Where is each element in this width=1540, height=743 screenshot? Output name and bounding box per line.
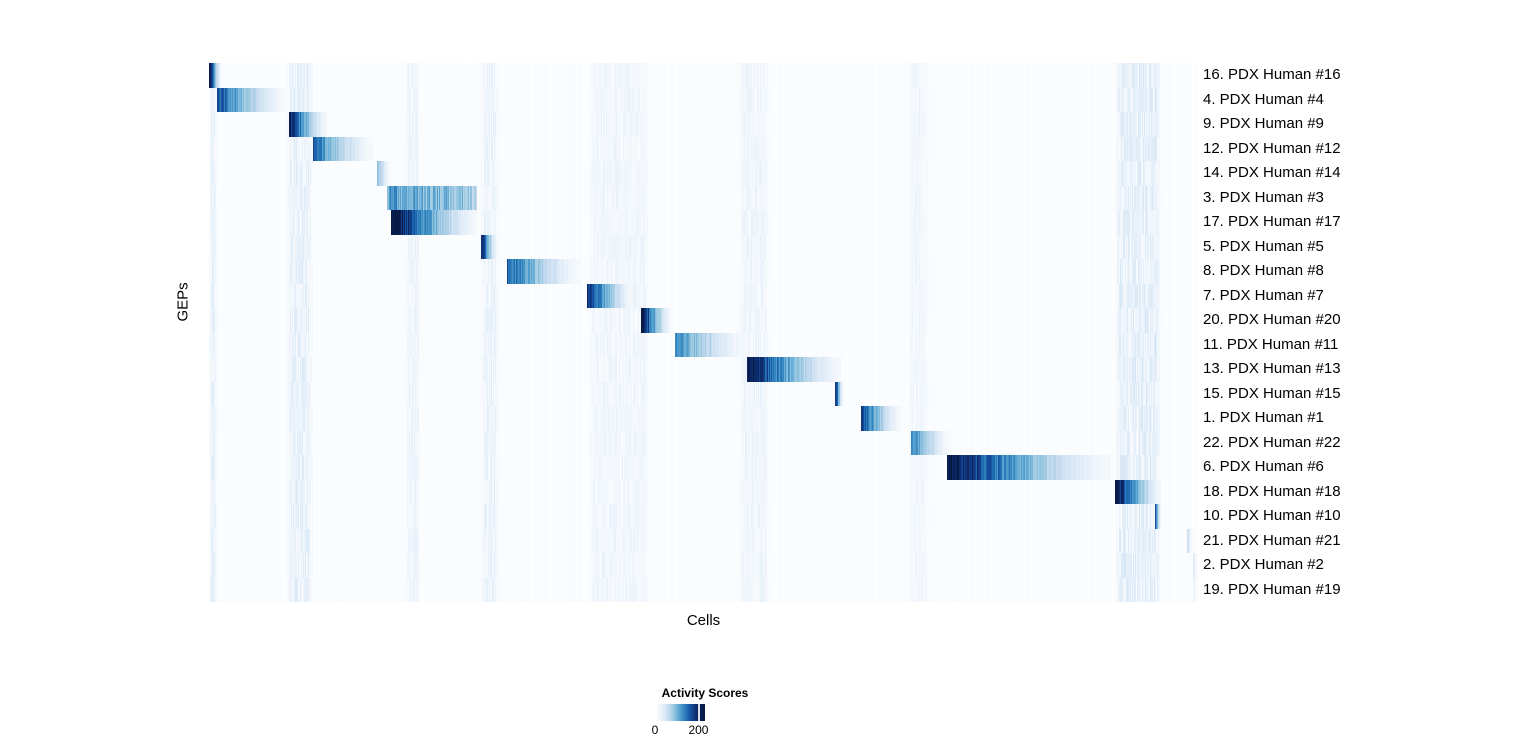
row-label: 3. PDX Human #3 xyxy=(1203,186,1324,211)
row-label-list: 16. PDX Human #164. PDX Human #49. PDX H… xyxy=(1203,63,1523,602)
y-axis-title: GEPs xyxy=(175,298,192,322)
row-label: 8. PDX Human #8 xyxy=(1203,259,1324,284)
row-label: 2. PDX Human #2 xyxy=(1203,553,1324,578)
row-label: 22. PDX Human #22 xyxy=(1203,431,1341,456)
row-label: 4. PDX Human #4 xyxy=(1203,88,1324,113)
row-label: 9. PDX Human #9 xyxy=(1203,112,1324,137)
heatmap-cells[interactable] xyxy=(209,63,1198,602)
row-label: 21. PDX Human #21 xyxy=(1203,529,1341,554)
row-label: 1. PDX Human #1 xyxy=(1203,406,1324,431)
row-label: 14. PDX Human #14 xyxy=(1203,161,1341,186)
row-label: 6. PDX Human #6 xyxy=(1203,455,1324,480)
row-label: 15. PDX Human #15 xyxy=(1203,382,1341,407)
row-label: 18. PDX Human #18 xyxy=(1203,480,1341,505)
row-label: 5. PDX Human #5 xyxy=(1203,235,1324,260)
row-label: 19. PDX Human #19 xyxy=(1203,578,1341,603)
row-label: 7. PDX Human #7 xyxy=(1203,284,1324,309)
colorbar-tick xyxy=(698,704,700,721)
heatmap-figure: GEPs Cells 16. PDX Human #164. PDX Human… xyxy=(0,0,1540,743)
colorbar-title: Activity Scores xyxy=(600,686,810,700)
heatmap-plot-area[interactable] xyxy=(209,63,1198,602)
row-label: 13. PDX Human #13 xyxy=(1203,357,1341,382)
colorbar-tick-label: 0 xyxy=(652,723,659,737)
colorbar-bar-wrap[interactable] xyxy=(655,704,705,721)
row-label: 16. PDX Human #16 xyxy=(1203,63,1341,88)
colorbar-legend: Activity Scores 0200 xyxy=(600,686,810,743)
row-label: 10. PDX Human #10 xyxy=(1203,504,1341,529)
row-label: 11. PDX Human #11 xyxy=(1203,333,1338,358)
colorbar-tick-label: 200 xyxy=(688,723,708,737)
x-axis-title: Cells xyxy=(209,612,1198,629)
row-label: 17. PDX Human #17 xyxy=(1203,210,1341,235)
row-label: 12. PDX Human #12 xyxy=(1203,137,1341,162)
row-label: 20. PDX Human #20 xyxy=(1203,308,1341,333)
